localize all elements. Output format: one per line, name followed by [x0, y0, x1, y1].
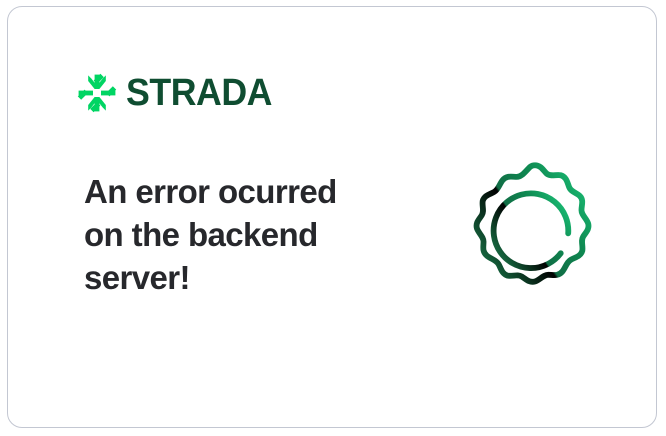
error-card: STRADA An error ocurred on the backend s…: [7, 6, 657, 428]
error-message: An error ocurred on the backend server!: [84, 170, 374, 299]
strada-asterisk-icon: [77, 73, 117, 113]
error-screen: STRADA An error ocurred on the backend s…: [0, 0, 666, 436]
gear-icon: [452, 147, 618, 313]
brand-lockup: STRADA: [77, 71, 281, 115]
brand-wordmark: STRADA: [126, 74, 272, 112]
